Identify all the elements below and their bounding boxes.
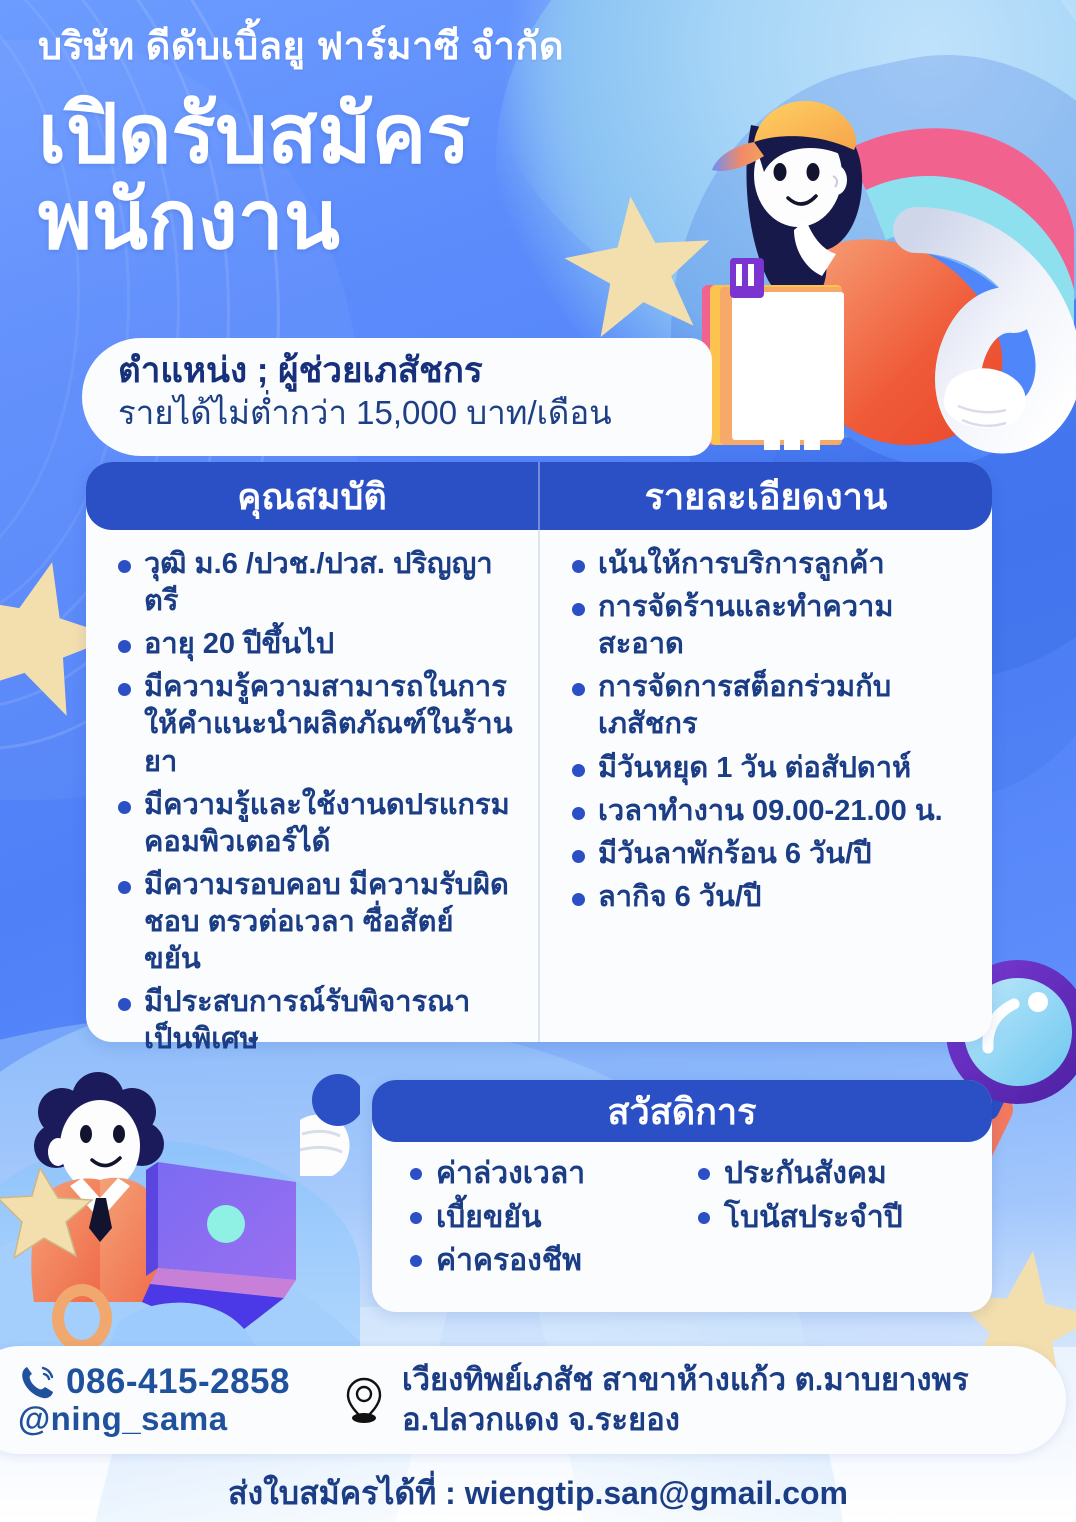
list-item: ประกันสังคม — [694, 1152, 982, 1196]
address-block: เวียงทิพย์เภสัช สาขาห้างแก้ว ต.มาบยางพร … — [402, 1360, 969, 1441]
list-item: มีความรอบคอบ มีความรับผิดชอบ ตรวต่อเวลา … — [112, 867, 516, 978]
job-details-column: เน้นให้การบริการลูกค้า การจัดร้านและทำคว… — [540, 530, 992, 1042]
list-item: มีความรู้และใช้งานดปรแกรมคอมพิวเตอร์ได้ — [112, 787, 516, 861]
list-item: เวลาทำงาน 09.00-21.00 น. — [566, 793, 970, 830]
page-title: เปิดรับสมัคร พนักงาน — [38, 92, 470, 264]
details-card-header: คุณสมบัติ รายละเอียดงาน — [86, 462, 992, 530]
details-card: คุณสมบัติ รายละเอียดงาน วุฒิ ม.6 /ปวช./ป… — [86, 462, 992, 1042]
list-item: มีวันลาพักร้อน 6 วัน/ปี — [566, 836, 970, 873]
benefits-card: สวัสดิการ ค่าล่วงเวลา เบี้ยขยัน ค่าครองช… — [372, 1080, 992, 1312]
phone-number[interactable]: 086-415-2858 — [66, 1362, 290, 1402]
address-line-2: อ.ปลวกแดง จ.ระยอง — [402, 1400, 969, 1440]
contact-bar: 086-415-2858 @ning_sama เวียงทิพย์เภสัช … — [0, 1346, 1066, 1454]
illustration-man-with-laptop — [0, 1072, 360, 1372]
benefits-column-right: ประกันสังคม โบนัสประจำปี — [694, 1152, 982, 1312]
benefits-list-left: ค่าล่วงเวลา เบี้ยขยัน ค่าครองชีพ — [406, 1152, 694, 1283]
company-name: บริษัท ดีดับเบิ้ลยู ฟาร์มาซี จำกัด — [38, 26, 564, 70]
line-id[interactable]: @ning_sama — [18, 1400, 290, 1438]
benefits-heading: สวัสดิการ — [372, 1080, 992, 1142]
job-details-list: เน้นให้การบริการลูกค้า การจัดร้านและทำคว… — [566, 546, 970, 916]
list-item: มีประสบการณ์รับพิจารณาเป็นพิเศษ — [112, 984, 516, 1058]
benefits-column-left: ค่าล่วงเวลา เบี้ยขยัน ค่าครองชีพ — [406, 1152, 694, 1312]
list-item: การจัดร้านและทำความสะอาด — [566, 589, 970, 663]
phone-row: 086-415-2858 — [18, 1362, 290, 1402]
position-banner: ตำแหน่ง ; ผู้ช่วยเภสัชกร รายได้ไม่ต่ำกว่… — [82, 338, 712, 456]
list-item: โบนัสประจำปี — [694, 1196, 982, 1240]
headline-line-1: เปิดรับสมัคร — [38, 92, 470, 178]
list-item: อายุ 20 ปีขึ้นไป — [112, 626, 516, 663]
qualifications-list: วุฒิ ม.6 /ปวช./ปวส. ปริญญาตรี อายุ 20 ปี… — [112, 546, 516, 1058]
benefits-card-body: ค่าล่วงเวลา เบี้ยขยัน ค่าครองชีพ ประกันส… — [372, 1142, 992, 1312]
list-item: วุฒิ ม.6 /ปวช./ปวส. ปริญญาตรี — [112, 546, 516, 620]
benefits-list-right: ประกันสังคม โบนัสประจำปี — [694, 1152, 982, 1239]
job-recruitment-poster: บริษัท ดีดับเบิ้ลยู ฟาร์มาซี จำกัด เปิดร… — [0, 0, 1076, 1522]
address-line-1: เวียงทิพย์เภสัช สาขาห้างแก้ว ต.มาบยางพร — [402, 1360, 969, 1400]
contact-phone-group: 086-415-2858 @ning_sama — [18, 1362, 290, 1438]
list-item: มีวันหยุด 1 วัน ต่อสัปดาห์ — [566, 750, 970, 787]
qualifications-column: วุฒิ ม.6 /ปวช./ปวส. ปริญญาตรี อายุ 20 ปี… — [86, 530, 540, 1042]
details-card-body: วุฒิ ม.6 /ปวช./ปวส. ปริญญาตรี อายุ 20 ปี… — [86, 530, 992, 1042]
list-item: ค่าครองชีพ — [406, 1239, 694, 1283]
qualifications-heading: คุณสมบัติ — [86, 462, 540, 530]
list-item: การจัดการสต็อกร่วมกับเภสัชกร — [566, 669, 970, 743]
email-line[interactable]: ส่งใบสมัครได้ที่ : wiengtip.san@gmail.co… — [0, 1468, 1076, 1519]
headline-line-2: พนักงาน — [38, 178, 470, 264]
list-item: เบี้ยขยัน — [406, 1196, 694, 1240]
list-item: เน้นให้การบริการลูกค้า — [566, 546, 970, 583]
list-item: มีความรู้ความสามารถในการให้คำแนะนำผลิตภั… — [112, 669, 516, 780]
list-item: ลากิจ 6 วัน/ปี — [566, 879, 970, 916]
list-item: ค่าล่วงเวลา — [406, 1152, 694, 1196]
phone-icon — [18, 1363, 56, 1401]
position-salary: รายได้ไม่ต่ำกว่า 15,000 บาท/เดือน — [118, 393, 686, 433]
position-title: ตำแหน่ง ; ผู้ช่วยเภสัชกร — [118, 350, 686, 393]
job-details-heading: รายละเอียดงาน — [540, 462, 992, 530]
illustration-woman-with-clipboard — [696, 80, 1076, 500]
location-pin-icon — [344, 1376, 384, 1424]
